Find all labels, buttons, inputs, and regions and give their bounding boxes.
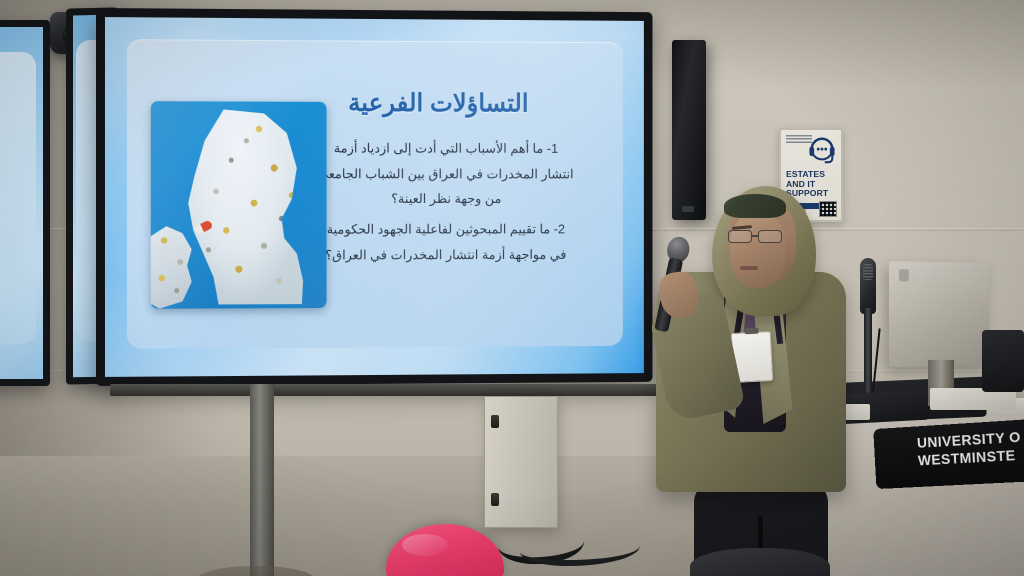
eyeglasses-icon bbox=[728, 230, 786, 243]
slide-body: 1- ما أهم الأسباب التي أدت إلى ازدياد أز… bbox=[291, 135, 600, 273]
cabinet-latch-bottom[interactable] bbox=[491, 493, 499, 506]
slide: التساؤلات الفرعية 1- ما أهم الأسباب التي… bbox=[105, 17, 644, 377]
question-1-line-3: من وجهة نظر العينة؟ bbox=[291, 187, 600, 213]
display-left-far bbox=[0, 20, 50, 386]
display-left-far-screen bbox=[0, 27, 43, 379]
presentation-screen[interactable]: التساؤلات الفرعية 1- ما أهم الأسباب التي… bbox=[96, 8, 652, 386]
question-1-line-2: انتشار المخدرات في العراق بين الشباب الج… bbox=[291, 161, 600, 187]
question-1-line-1: 1- ما أهم الأسباب التي أدت إلى ازدياد أز… bbox=[291, 135, 600, 161]
lectern-equipment-right bbox=[982, 330, 1024, 392]
presenter-mouth bbox=[740, 266, 758, 270]
pills-head-illustration bbox=[151, 101, 327, 309]
presenter-face bbox=[730, 212, 786, 288]
slide-panel: التساؤلات الفرعية 1- ما أهم الأسباب التي… bbox=[127, 39, 623, 349]
eyeglasses-lens-left bbox=[728, 230, 752, 243]
gooseneck-mic-capsule bbox=[860, 258, 876, 314]
hijab-under-band bbox=[724, 194, 786, 218]
lecture-room-scene: التساؤلات الفرعية 1- ما أهم الأسباب التي… bbox=[0, 0, 1024, 576]
screen-mount-pole bbox=[250, 384, 274, 576]
presenter bbox=[640, 186, 860, 576]
headset-icon bbox=[807, 135, 837, 165]
slide-question-1: 1- ما أهم الأسباب التي أدت إلى ازدياد أز… bbox=[291, 135, 600, 212]
question-2-line-1: 2- ما تقييم المبحوثين لفاعلية الجهود الح… bbox=[291, 217, 600, 243]
cabinet-latch-top[interactable] bbox=[491, 415, 499, 428]
lectern-monitor[interactable] bbox=[889, 261, 989, 367]
lectern-brand-panel: UNIVERSITY O WESTMINSTE bbox=[873, 410, 1024, 489]
av-cabinet[interactable] bbox=[484, 396, 558, 528]
slide-question-2: 2- ما تقييم المبحوثين لفاعلية الجهود الح… bbox=[291, 217, 600, 268]
audience-member-right bbox=[690, 548, 830, 576]
lectern-brand-text: UNIVERSITY O WESTMINSTE bbox=[917, 430, 1023, 471]
question-2-line-2: في مواجهة أزمة انتشار المخدرات في العراق… bbox=[291, 242, 600, 268]
pills-head-texture bbox=[181, 109, 307, 304]
eyeglasses-lens-right bbox=[758, 230, 782, 243]
screen-mount-bar bbox=[110, 384, 670, 396]
